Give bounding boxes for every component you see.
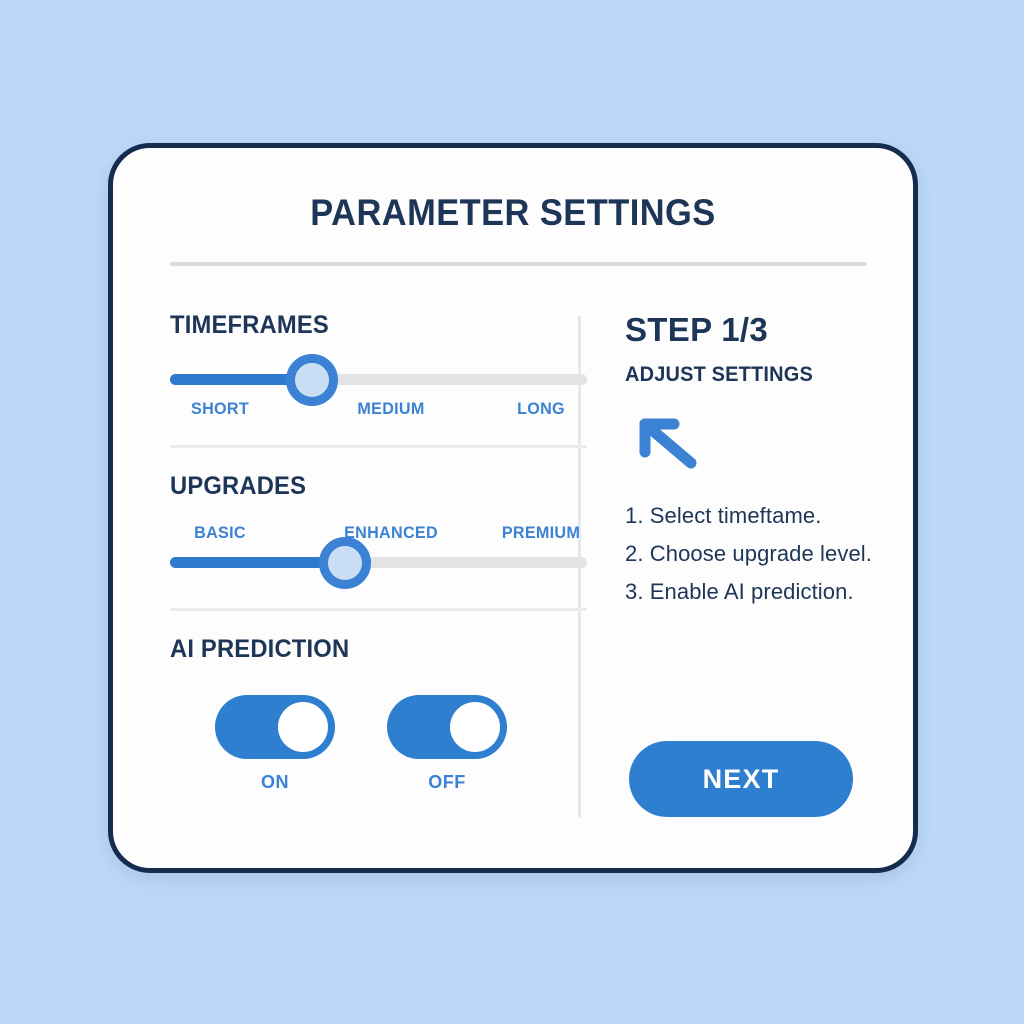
section-divider-1: [170, 445, 587, 448]
toggle-label-on: ON: [261, 772, 289, 793]
timeframes-tick-medium[interactable]: MEDIUM: [357, 399, 424, 419]
upgrades-tick-premium[interactable]: PREMIUM: [502, 523, 580, 543]
toggle-label-off: OFF: [428, 772, 466, 793]
toggle-cell-on: ON: [215, 695, 335, 793]
ai-prediction-toggle-row: ON OFF: [170, 695, 587, 793]
upgrades-tick-basic[interactable]: BASIC: [194, 523, 246, 543]
toggle-cell-off: OFF: [387, 695, 507, 793]
upgrades-slider-thumb[interactable]: [319, 537, 371, 589]
section-divider-2: [170, 608, 587, 611]
instruction-item: 3. Enable AI prediction.: [625, 579, 897, 605]
upgrades-slider[interactable]: BASIC ENHANCED PREMIUM: [170, 523, 587, 568]
parameter-settings-card: PARAMETER SETTINGS TIMEFRAMES SHORT MEDI…: [108, 143, 918, 873]
timeframes-slider[interactable]: SHORT MEDIUM LONG: [170, 374, 587, 423]
upgrades-section: UPGRADES BASIC ENHANCED PREMIUM: [170, 472, 587, 568]
arrow-up-left-icon: [631, 411, 711, 473]
timeframes-section: TIMEFRAMES SHORT MEDIUM LONG: [170, 311, 587, 423]
page-title: PARAMETER SETTINGS: [141, 192, 885, 234]
step-title: STEP 1/3: [625, 311, 897, 349]
guidance-panel: STEP 1/3 ADJUST SETTINGS 1. Select timef…: [625, 311, 897, 617]
upgrades-label: UPGRADES: [170, 472, 566, 501]
ai-prediction-label: AI PREDICTION: [170, 635, 566, 664]
toggle-knob-icon: [278, 702, 328, 752]
instruction-item: 2. Choose upgrade level.: [625, 541, 897, 567]
instruction-item: 1. Select timeftame.: [625, 503, 897, 529]
title-divider: [170, 262, 867, 266]
step-subtitle: ADJUST SETTINGS: [625, 363, 883, 387]
timeframes-slider-rail[interactable]: [170, 374, 587, 385]
next-button[interactable]: NEXT: [629, 741, 853, 817]
instructions-list: 1. Select timeftame. 2. Choose upgrade l…: [625, 503, 897, 605]
settings-panel: TIMEFRAMES SHORT MEDIUM LONG UPGRADES BA…: [170, 311, 587, 793]
ai-prediction-section: AI PREDICTION ON OFF: [170, 635, 587, 793]
timeframes-slider-thumb[interactable]: [286, 354, 338, 406]
toggle-knob-icon: [450, 702, 500, 752]
upgrades-slider-rail[interactable]: [170, 557, 587, 568]
timeframes-tick-long[interactable]: LONG: [517, 399, 565, 419]
timeframes-tick-short[interactable]: SHORT: [191, 399, 249, 419]
ai-prediction-toggle-on[interactable]: [215, 695, 335, 759]
upgrades-scale: BASIC ENHANCED PREMIUM: [170, 523, 587, 547]
ai-prediction-toggle-off[interactable]: [387, 695, 507, 759]
timeframes-label: TIMEFRAMES: [170, 311, 566, 340]
timeframes-scale: SHORT MEDIUM LONG: [170, 399, 587, 423]
